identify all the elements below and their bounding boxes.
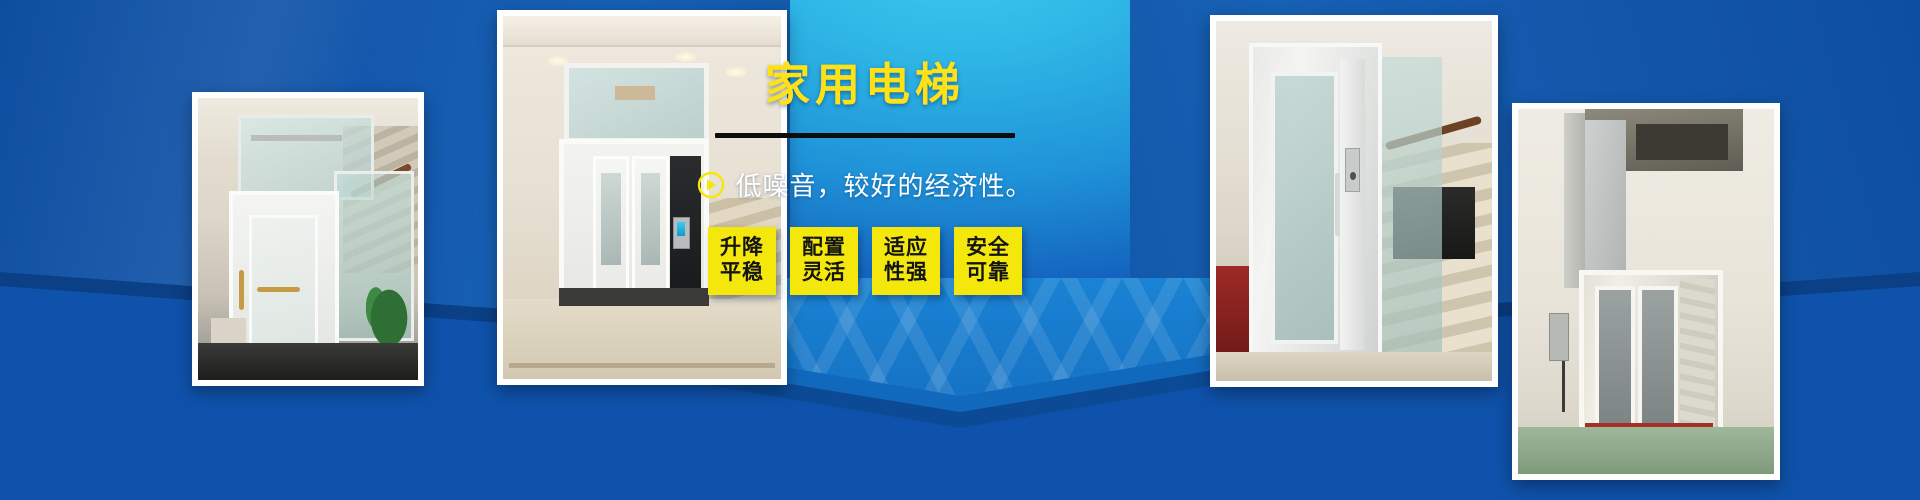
circled-play-arrow-icon [697,171,725,199]
badge-line-1: 配置 [802,236,846,261]
feature-badge: 升降 平稳 [708,227,776,295]
photo-4-image [1518,109,1774,474]
photo-1-image [198,98,418,380]
home-elevator-banner: 家用电梯 低噪音，较好的经济性。 升降 平稳 配置 灵活 适应 性强 [0,0,1920,500]
feature-badge: 适应 性强 [872,227,940,295]
banner-subtitle: 低噪音，较好的经济性。 [735,166,1032,203]
badge-line-2: 平稳 [720,261,764,286]
badge-line-1: 适应 [884,236,928,261]
badge-line-1: 升降 [720,236,764,261]
banner-text-column: 家用电梯 低噪音，较好的经济性。 升降 平稳 配置 灵活 适应 性强 [650,62,1080,295]
photo-3-image [1216,21,1492,381]
photo-glass-shaft-elevator-with-plant [192,92,424,386]
badge-line-2: 可靠 [966,261,1010,286]
photo-elevator-under-installation [1512,103,1780,480]
banner-subtitle-row: 低噪音，较好的经济性。 [650,166,1080,203]
badge-line-1: 安全 [966,236,1010,261]
badge-line-2: 灵活 [802,261,846,286]
title-divider [715,133,1015,138]
feature-badge: 配置 灵活 [790,227,858,295]
feature-badge-list: 升降 平稳 配置 灵活 适应 性强 安全 可靠 [650,227,1080,295]
photo-stainless-elevator-beside-staircase [1210,15,1498,387]
feature-badge: 安全 可靠 [954,227,1022,295]
banner-title: 家用电梯 [650,62,1080,107]
badge-line-2: 性强 [884,261,928,286]
